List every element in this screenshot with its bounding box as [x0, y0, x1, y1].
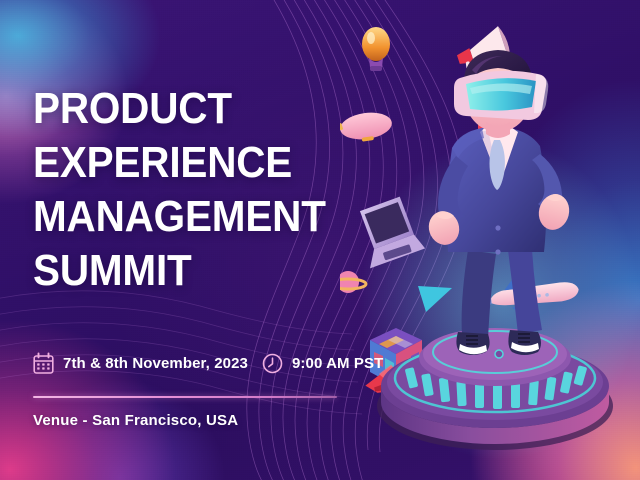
event-banner: PRODUCT EXPERIENCE MANAGEMENT SUMMIT — [0, 0, 640, 480]
event-date: 7th & 8th November, 2023 — [33, 352, 248, 374]
shoe-left — [456, 332, 489, 355]
divider — [33, 396, 337, 398]
clock-icon — [262, 353, 283, 374]
event-time-text: 9:00 AM PST — [292, 355, 383, 372]
title-line-3: SUMMIT — [33, 244, 355, 298]
event-time: 9:00 AM PST — [262, 353, 383, 374]
event-date-text: 7th & 8th November, 2023 — [63, 355, 248, 372]
title-line-2: MANAGEMENT — [33, 190, 355, 244]
shoe-right — [508, 330, 541, 355]
vr-headset — [454, 71, 548, 120]
event-venue: Venue - San Francisco, USA — [33, 412, 238, 429]
calendar-icon — [33, 352, 54, 374]
event-meta-row: 7th & 8th November, 2023 9:00 AM PST — [33, 352, 383, 374]
banner-content: PRODUCT EXPERIENCE MANAGEMENT SUMMIT — [33, 0, 393, 480]
page-title: PRODUCT EXPERIENCE MANAGEMENT SUMMIT — [33, 82, 355, 298]
title-line-1: PRODUCT EXPERIENCE — [33, 84, 292, 187]
